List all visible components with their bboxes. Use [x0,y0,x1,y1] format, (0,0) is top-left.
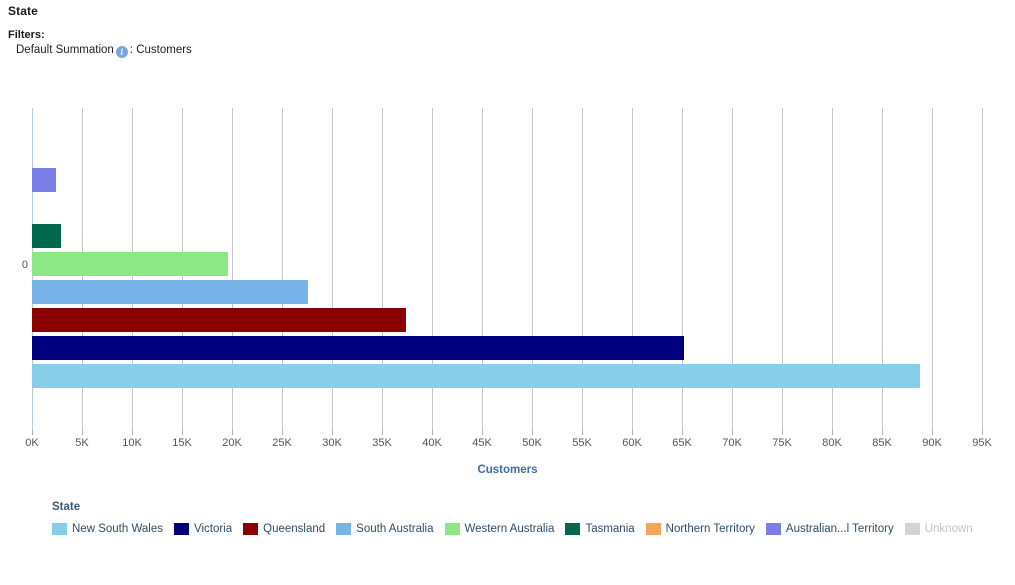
legend-item[interactable]: New South Wales [52,520,163,538]
legend-title: State [52,500,1002,514]
x-tick-label: 65K [662,437,702,449]
x-tick-label: 20K [212,437,252,449]
x-tick-mark [182,430,183,435]
bar[interactable] [32,364,920,388]
x-tick-mark [382,430,383,435]
x-tick-label: 0K [12,437,52,449]
page-title: State [8,4,38,18]
legend-item-label: South Australia [356,520,433,538]
legend-items: New South WalesVictoriaQueenslandSouth A… [52,520,1002,538]
x-tick-label: 95K [962,437,1002,449]
x-tick-label: 25K [262,437,302,449]
x-tick-mark [782,430,783,435]
x-tick-label: 45K [462,437,502,449]
x-tick-label: 10K [112,437,152,449]
x-tick-label: 35K [362,437,402,449]
info-icon[interactable]: i [116,46,128,58]
legend-item[interactable]: Victoria [174,520,232,538]
bar-row[interactable] [32,252,990,276]
bar[interactable] [32,336,684,360]
legend-item-label: Tasmania [585,520,634,538]
bar-chart: 0 0K5K10K15K20K25K30K35K40K45K50K55K60K6… [0,90,1015,490]
x-tick-label: 40K [412,437,452,449]
x-tick-mark [882,430,883,435]
x-tick-mark [82,430,83,435]
legend: State New South WalesVictoriaQueenslandS… [52,500,1002,538]
legend-swatch [766,523,781,535]
x-tick-mark [482,430,483,435]
x-tick-label: 50K [512,437,552,449]
x-axis-title: Customers [0,464,1015,476]
legend-swatch [52,523,67,535]
x-tick-mark [132,430,133,435]
x-tick-mark [582,430,583,435]
x-tick-label: 15K [162,437,202,449]
y-axis-label-0: 0 [14,259,28,271]
legend-item-label: Australian...l Territory [786,520,894,538]
x-tick-mark [632,430,633,435]
x-tick-label: 5K [62,437,102,449]
bar-row[interactable] [32,336,990,360]
legend-swatch [174,523,189,535]
x-tick-label: 85K [862,437,902,449]
bar-row[interactable] [32,196,990,220]
filters-block: Filters: Default Summationi: Customers [8,28,192,58]
legend-swatch [565,523,580,535]
legend-swatch [905,523,920,535]
x-tick-label: 55K [562,437,602,449]
x-tick-mark [432,430,433,435]
bar[interactable] [32,308,406,332]
plot-area [32,108,990,430]
x-tick-label: 30K [312,437,352,449]
bar-row[interactable] [32,224,990,248]
legend-item-label: Queensland [263,520,325,538]
x-tick-mark [332,430,333,435]
bar[interactable] [32,252,228,276]
legend-swatch [243,523,258,535]
bar-row[interactable] [32,280,990,304]
x-tick-mark [732,430,733,435]
legend-item[interactable]: Northern Territory [646,520,755,538]
legend-item[interactable]: Australian...l Territory [766,520,894,538]
x-tick-mark [32,430,33,435]
legend-item-label: Western Australia [465,520,555,538]
legend-swatch [445,523,460,535]
x-tick-mark [832,430,833,435]
x-tick-label: 75K [762,437,802,449]
legend-item-label: Unknown [925,520,973,538]
bar-row[interactable] [32,364,990,388]
legend-item[interactable]: South Australia [336,520,433,538]
legend-item-label: Northern Territory [666,520,755,538]
x-tick-mark [982,430,983,435]
x-tick-label: 80K [812,437,852,449]
legend-item[interactable]: Queensland [243,520,325,538]
x-tick-mark [532,430,533,435]
legend-item-label: Victoria [194,520,232,538]
legend-item[interactable]: Unknown [905,520,973,538]
filter-row: Default Summationi: Customers [16,42,192,58]
bar-row[interactable] [32,168,990,192]
filters-label: Filters: [8,28,192,42]
bar-row[interactable] [32,308,990,332]
bar[interactable] [32,280,308,304]
x-tick-mark [682,430,683,435]
legend-item[interactable]: Western Australia [445,520,555,538]
bar[interactable] [32,168,56,192]
x-tick-label: 90K [912,437,952,449]
legend-swatch [336,523,351,535]
filter-separator: : [130,44,133,56]
x-tick-mark [282,430,283,435]
legend-swatch [646,523,661,535]
filter-value: Customers [136,44,192,56]
legend-item[interactable]: Tasmania [565,520,634,538]
x-tick-mark [932,430,933,435]
x-tick-label: 60K [612,437,652,449]
x-tick-label: 70K [712,437,752,449]
filter-name: Default Summation [16,44,114,56]
x-tick-mark [232,430,233,435]
bar[interactable] [32,224,61,248]
legend-item-label: New South Wales [72,520,163,538]
